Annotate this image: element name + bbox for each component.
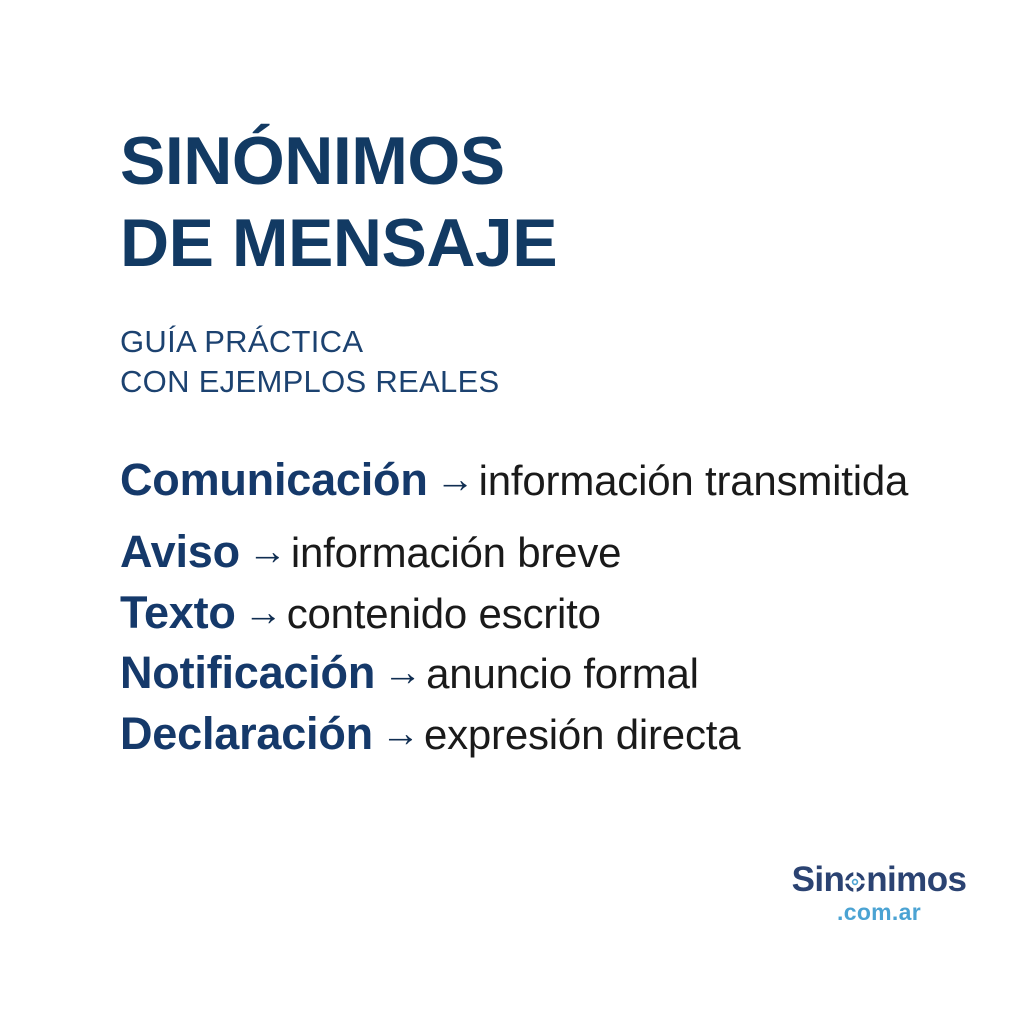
synonym-row: Aviso→información breve: [120, 527, 910, 577]
arrow-icon: →: [375, 651, 426, 694]
synonym-term: Notificación: [120, 647, 375, 698]
circular-o-icon: [844, 871, 866, 893]
synonym-row: Texto→contenido escrito: [120, 588, 910, 638]
brand-wordmark-suffix: nimos: [866, 860, 966, 899]
synonym-row: Comunicación→información transmitida: [120, 455, 910, 505]
synonym-definition: contenido escrito: [287, 590, 601, 637]
brand-wordmark-prefix: Sin: [792, 860, 845, 899]
arrow-icon: →: [236, 591, 287, 634]
synonym-definition: información breve: [291, 529, 621, 576]
synonym-term: Texto: [120, 587, 236, 638]
page-title: SINÓNIMOS DE MENSAJE: [120, 128, 980, 277]
page-subtitle: GUÍA PRÁCTICA CON EJEMPLOS REALES: [120, 322, 980, 401]
synonym-row: Declaración→expresión directa: [120, 709, 910, 759]
page-subtitle-line-2: CON EJEMPLOS REALES: [120, 362, 980, 402]
poster-canvas: SINÓNIMOS DE MENSAJE GUÍA PRÁCTICA CON E…: [0, 0, 1024, 1024]
synonym-term: Aviso: [120, 526, 240, 577]
page-title-line-2: DE MENSAJE: [120, 210, 980, 277]
brand-logo[interactable]: Sinnimos .com.ar: [789, 862, 969, 924]
synonym-term: Comunicación: [120, 454, 428, 505]
page-title-line-1: SINÓNIMOS: [120, 128, 980, 195]
page-subtitle-line-1: GUÍA PRÁCTICA: [120, 322, 980, 362]
synonym-list: Comunicación→información transmitida Avi…: [120, 455, 910, 769]
synonym-row: Notificación→anuncio formal: [120, 648, 910, 698]
arrow-icon: →: [240, 530, 291, 573]
synonym-definition: expresión directa: [424, 711, 740, 758]
synonym-definition: información transmitida: [479, 457, 909, 504]
header: SINÓNIMOS DE MENSAJE GUÍA PRÁCTICA CON E…: [120, 82, 980, 402]
arrow-icon: →: [373, 712, 424, 755]
brand-tld: .com.ar: [789, 901, 969, 924]
brand-wordmark: Sinnimos: [792, 862, 967, 897]
arrow-icon: →: [428, 458, 479, 501]
synonym-term: Declaración: [120, 708, 373, 759]
synonym-definition: anuncio formal: [426, 650, 699, 697]
